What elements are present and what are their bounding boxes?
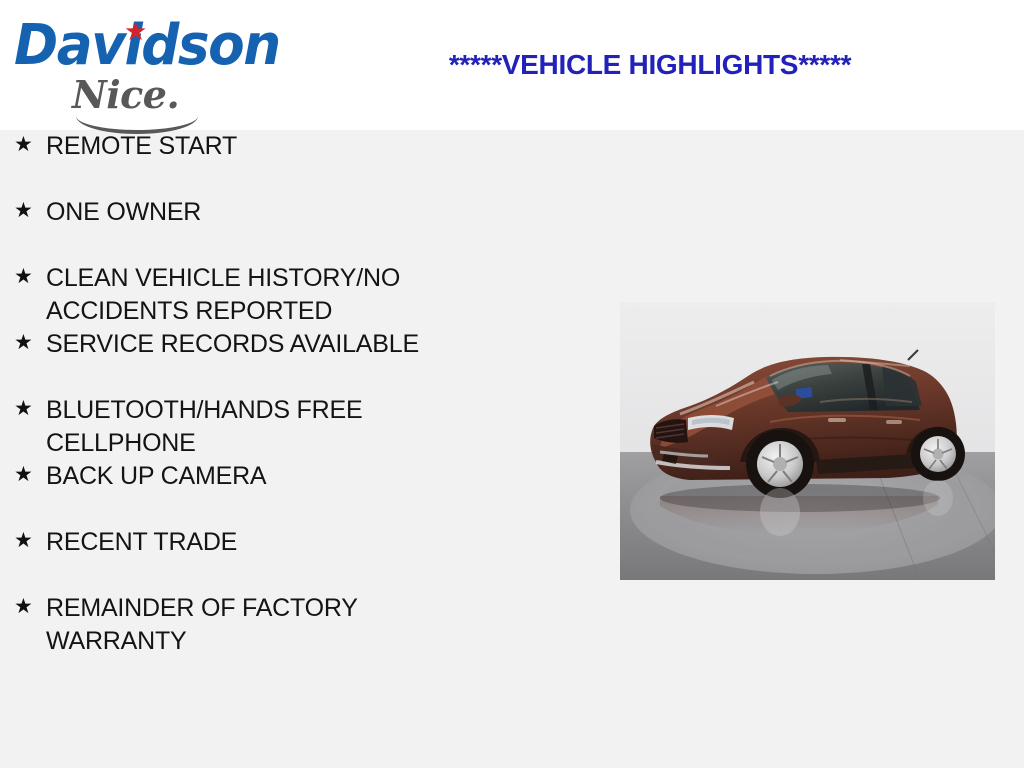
list-item-label: REMOTE START bbox=[46, 130, 560, 163]
list-item: ★ BACK UP CAMERA bbox=[0, 460, 560, 526]
logo-script-text: Nice. bbox=[72, 76, 179, 114]
list-item-label: SERVICE RECORDS AVAILABLE bbox=[46, 328, 560, 361]
vehicle-highlights-page: Davidson ★ Nice. *****VEHICLE HIGHLIGHTS… bbox=[0, 0, 1024, 768]
vehicle-photo[interactable] bbox=[620, 302, 995, 580]
star-bullet-icon: ★ bbox=[14, 328, 46, 358]
list-item: ★ REMOTE START bbox=[0, 130, 560, 196]
star-bullet-icon: ★ bbox=[14, 262, 46, 292]
page-title: *****VEHICLE HIGHLIGHTS***** bbox=[300, 48, 1000, 82]
dealer-logo[interactable]: Davidson ★ Nice. bbox=[14, 8, 272, 123]
list-item-label: BACK UP CAMERA bbox=[46, 460, 560, 493]
star-bullet-icon: ★ bbox=[14, 460, 46, 490]
list-item-label: BLUETOOTH/HANDS FREE CELLPHONE bbox=[46, 394, 560, 460]
list-item: ★ REMAINDER OF FACTORY WARRANTY bbox=[0, 592, 560, 658]
list-item-label: RECENT TRADE bbox=[46, 526, 560, 559]
list-item-label: ONE OWNER bbox=[46, 196, 560, 229]
list-item-label: CLEAN VEHICLE HISTORY/NO ACCIDENTS REPOR… bbox=[46, 262, 560, 328]
star-bullet-icon: ★ bbox=[14, 592, 46, 622]
list-item-label: REMAINDER OF FACTORY WARRANTY bbox=[46, 592, 560, 658]
red-star-icon: ★ bbox=[124, 18, 147, 44]
star-bullet-icon: ★ bbox=[14, 196, 46, 226]
list-item: ★ CLEAN VEHICLE HISTORY/NO ACCIDENTS REP… bbox=[0, 262, 560, 328]
vehicle-highlights-list: ★ REMOTE START ★ ONE OWNER ★ CLEAN VEHIC… bbox=[0, 130, 560, 658]
header-bar: Davidson ★ Nice. *****VEHICLE HIGHLIGHTS… bbox=[0, 0, 1024, 130]
star-bullet-icon: ★ bbox=[14, 130, 46, 160]
star-bullet-icon: ★ bbox=[14, 526, 46, 556]
list-item: ★ RECENT TRADE bbox=[0, 526, 560, 592]
list-item: ★ SERVICE RECORDS AVAILABLE bbox=[0, 328, 560, 394]
list-item: ★ BLUETOOTH/HANDS FREE CELLPHONE bbox=[0, 394, 560, 460]
list-item: ★ ONE OWNER bbox=[0, 196, 560, 262]
vehicle-photo-illustration bbox=[620, 302, 995, 580]
star-bullet-icon: ★ bbox=[14, 394, 46, 424]
